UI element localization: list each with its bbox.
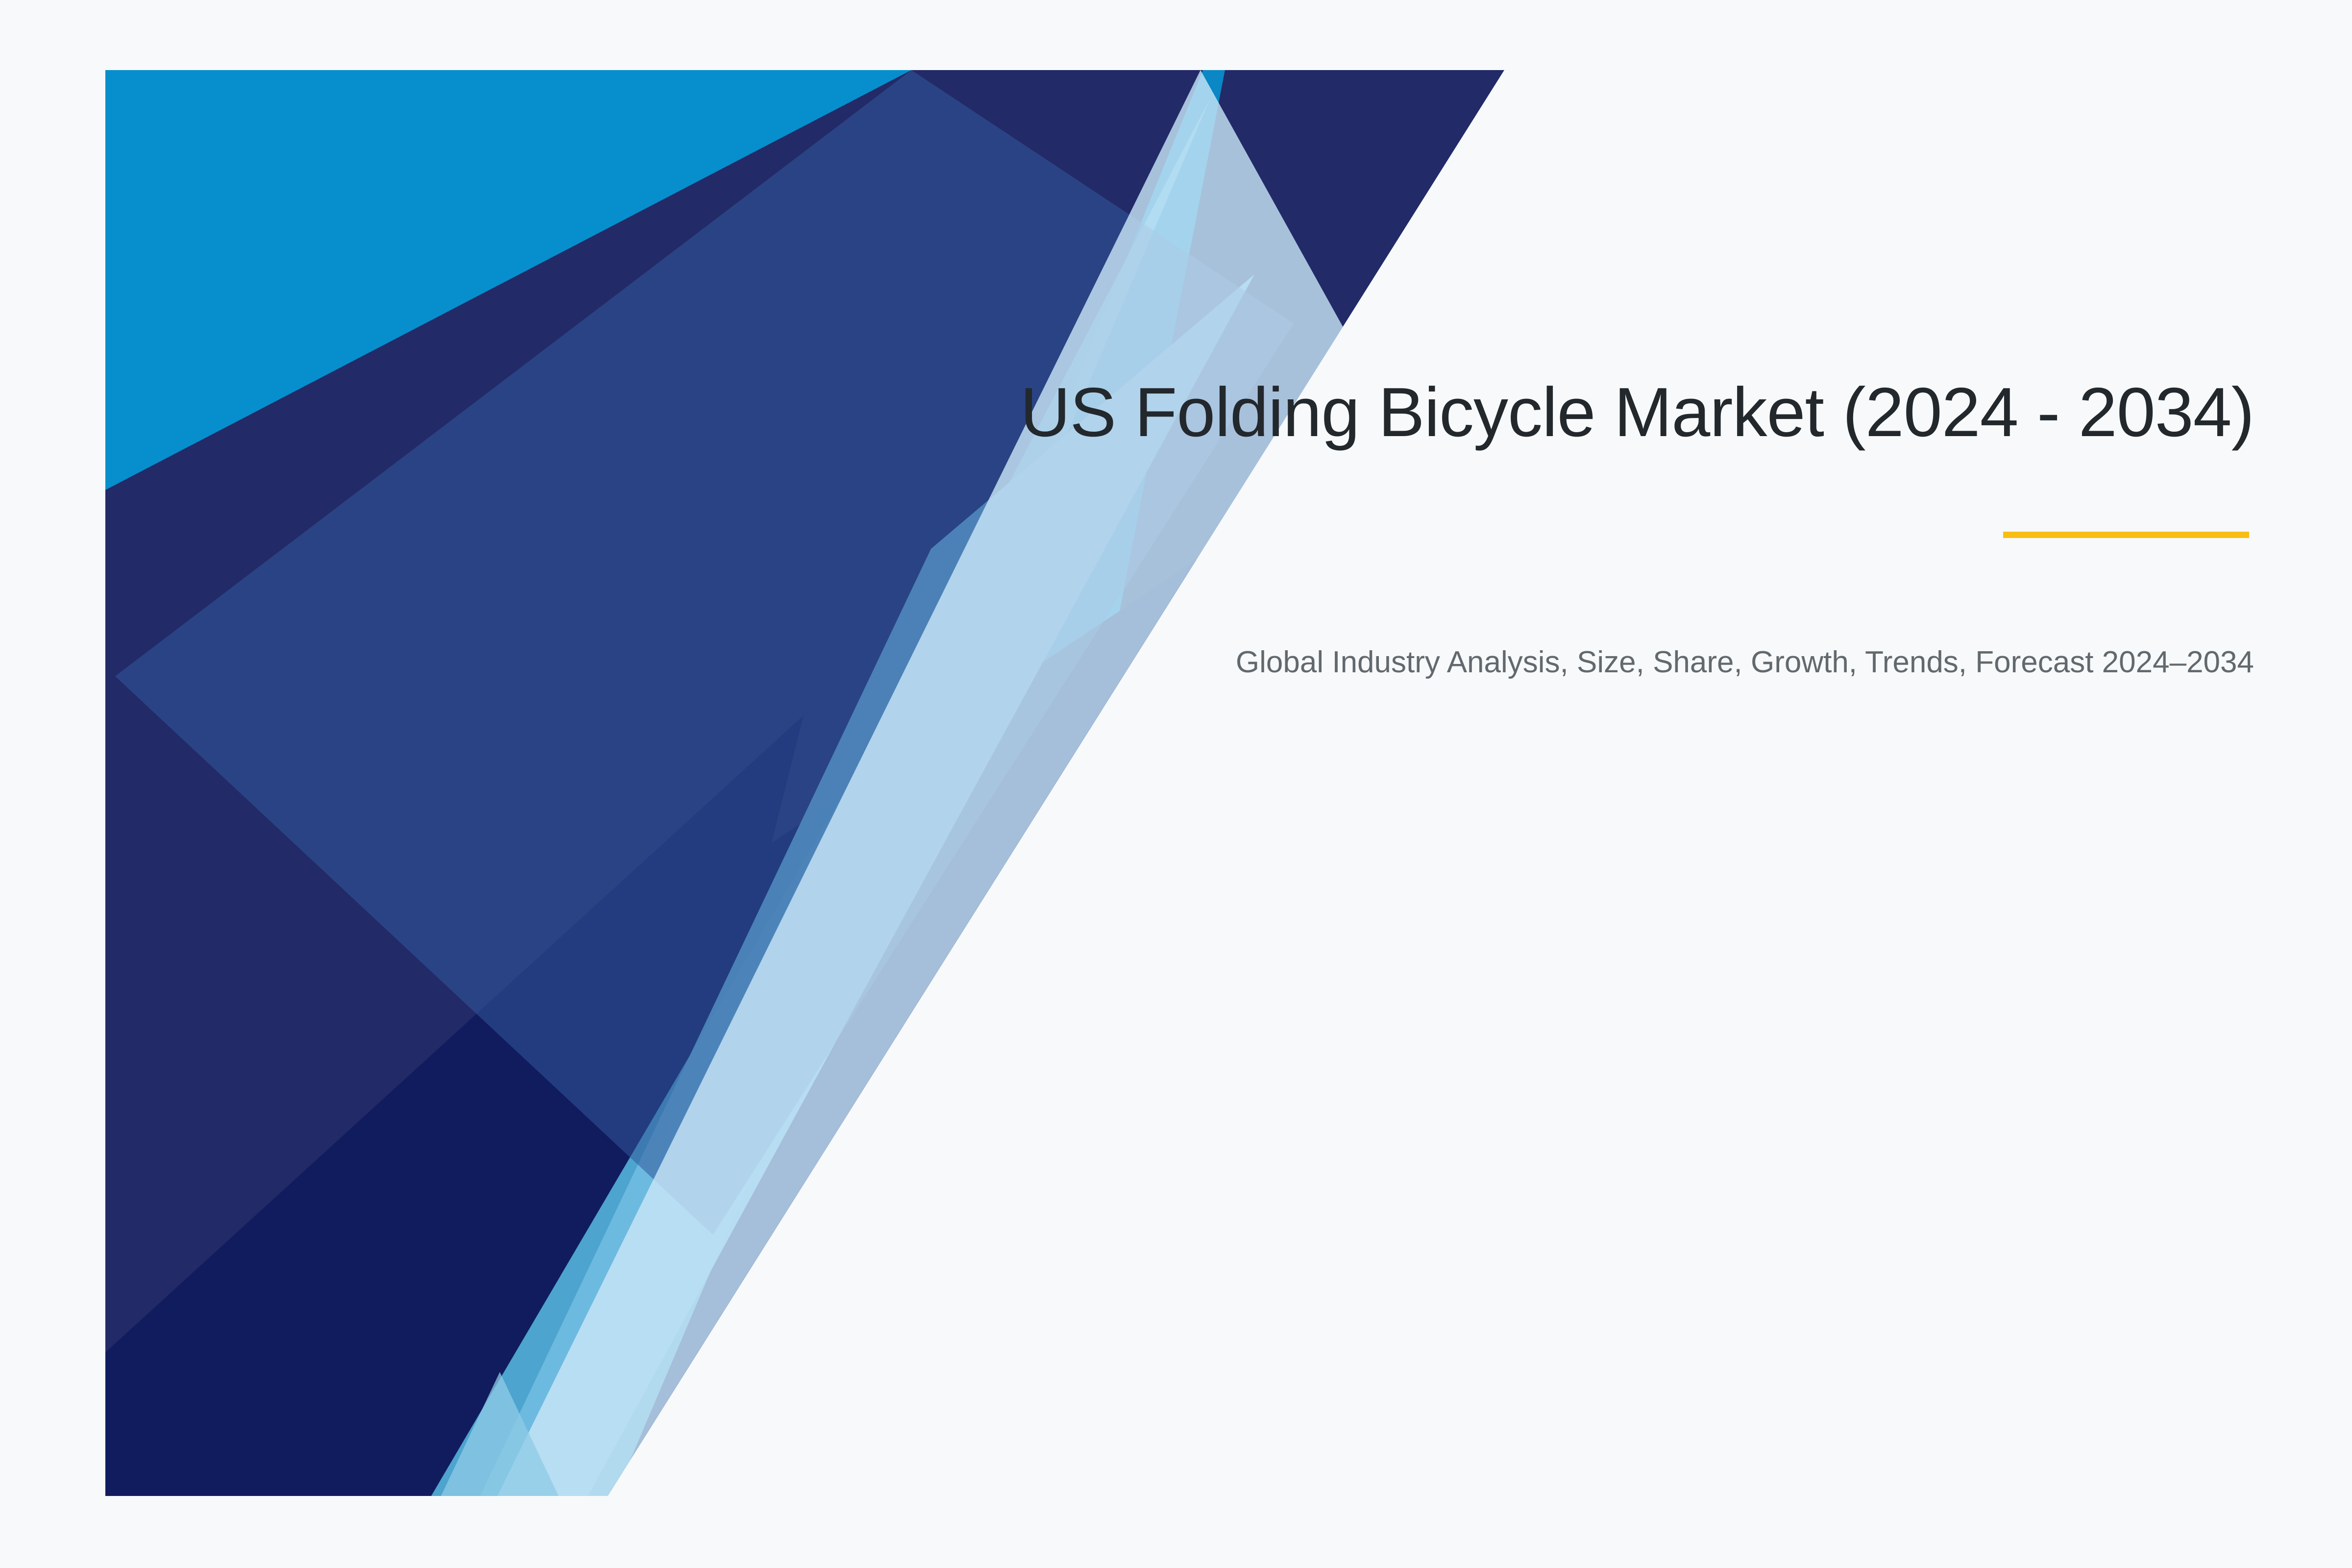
title-block: US Folding Bicycle Market (2024 - 2034) (980, 372, 2254, 453)
shape-deep-navy-triangle (105, 715, 804, 1496)
title-underline-accent (2003, 532, 2249, 538)
subtitle-block: Global Industry Analysis, Size, Share, G… (980, 642, 2254, 683)
shape-pale-highlight (441, 1372, 559, 1496)
page-subtitle: Global Industry Analysis, Size, Share, G… (980, 642, 2254, 683)
text-column: US Folding Bicycle Market (2024 - 2034) … (980, 0, 2264, 1568)
page-title: US Folding Bicycle Market (2024 - 2034) (980, 372, 2254, 453)
report-cover-slide: US Folding Bicycle Market (2024 - 2034) … (0, 0, 2352, 1568)
